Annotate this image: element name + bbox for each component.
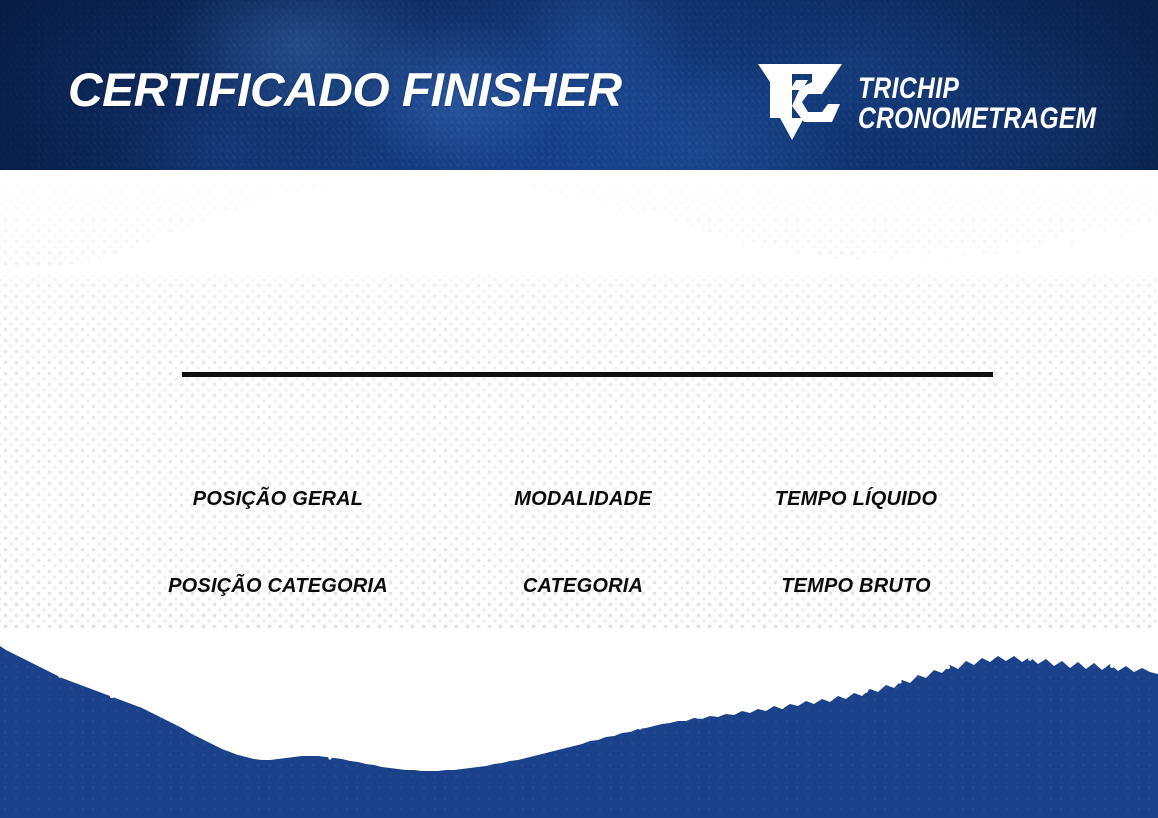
participant-name-line[interactable] <box>182 372 993 377</box>
field-label-posicao-geral: POSIÇÃO GERAL <box>193 488 363 511</box>
field-label-tempo-bruto: TEMPO BRUTO <box>781 575 931 598</box>
field-label-categoria: CATEGORIA <box>523 575 643 598</box>
certificate-canvas: CERTIFICADO FINISHER TRICHIP CRONOMETRAG… <box>0 0 1158 818</box>
page-title: CERTIFICADO FINISHER <box>68 66 622 113</box>
brand-name-secondary: CRONOMETRAGEM <box>858 105 1096 133</box>
brand-wordmark: TRICHIP CRONOMETRAGEM <box>858 71 1149 132</box>
field-label-posicao-categoria: POSIÇÃO CATEGORIA <box>168 575 388 598</box>
footer-band <box>0 628 1158 818</box>
footer-texture-overlay <box>0 628 1158 818</box>
field-label-modalidade: MODALIDADE <box>514 488 652 511</box>
brand-name-primary: TRICHIP <box>858 75 1096 103</box>
brand-logo: TRICHIP CRONOMETRAGEM <box>752 60 1149 144</box>
field-label-tempo-liquido: TEMPO LÍQUIDO <box>775 488 938 511</box>
trichip-tc-monogram-icon <box>752 60 848 144</box>
